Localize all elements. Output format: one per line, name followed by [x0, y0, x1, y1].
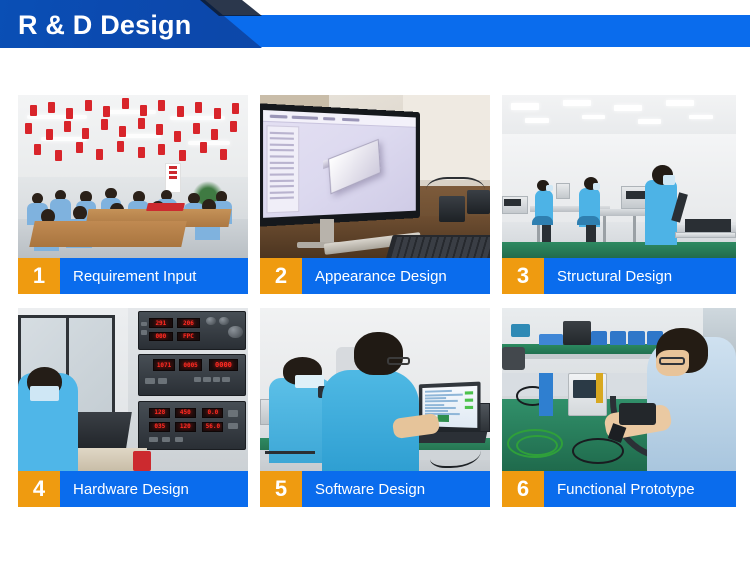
step-number-badge: 1 — [18, 258, 60, 294]
cad-model — [328, 139, 381, 195]
step-label-bar: 5 Software Design — [260, 471, 490, 507]
process-step-card[interactable]: 1 Requirement Input — [18, 95, 248, 307]
process-step-card[interactable]: 6 Functional Prototype — [502, 308, 736, 508]
step-photo-structural-design — [502, 95, 736, 258]
step-photo-software-design — [260, 308, 490, 471]
step-number-badge: 6 — [502, 471, 544, 507]
step-label-bar: 6 Functional Prototype — [502, 471, 736, 507]
step-photo-requirement-input — [18, 95, 248, 258]
process-step-card[interactable]: 291 206 000 FPC 1071 0005 000 — [18, 308, 248, 508]
step-photo-hardware-design: 291 206 000 FPC 1071 0005 000 — [18, 308, 248, 471]
step-label-text: Functional Prototype — [544, 471, 736, 507]
step-number-badge: 4 — [18, 471, 60, 507]
process-step-grid: 1 Requirement Input — [18, 95, 734, 508]
monitor — [260, 103, 420, 227]
step-number-badge: 5 — [260, 471, 302, 507]
page-header-banner: R & D Design — [0, 0, 750, 56]
page-title: R & D Design — [18, 6, 191, 44]
keyboard — [385, 235, 490, 258]
process-step-card[interactable]: 2 Appearance Design — [260, 95, 490, 307]
step-label-text: Software Design — [302, 471, 490, 507]
step-number-badge: 3 — [502, 258, 544, 294]
wall-sign — [165, 163, 181, 192]
rd-design-page: R & D Design — [0, 0, 750, 568]
step-label-bar: 4 Hardware Design — [18, 471, 248, 507]
step-label-bar: 3 Structural Design — [502, 258, 736, 294]
step-photo-functional-prototype — [502, 308, 736, 471]
process-step-card[interactable]: 3 Structural Design — [502, 95, 736, 307]
step-label-text: Requirement Input — [60, 258, 248, 294]
step-label-text: Structural Design — [544, 258, 736, 294]
step-label-text: Hardware Design — [60, 471, 248, 507]
step-label-bar: 1 Requirement Input — [18, 258, 248, 294]
process-step-card[interactable]: 5 Software Design — [260, 308, 490, 508]
step-photo-appearance-design — [260, 95, 490, 258]
step-label-bar: 2 Appearance Design — [260, 258, 490, 294]
step-label-text: Appearance Design — [302, 258, 490, 294]
step-number-badge: 2 — [260, 258, 302, 294]
